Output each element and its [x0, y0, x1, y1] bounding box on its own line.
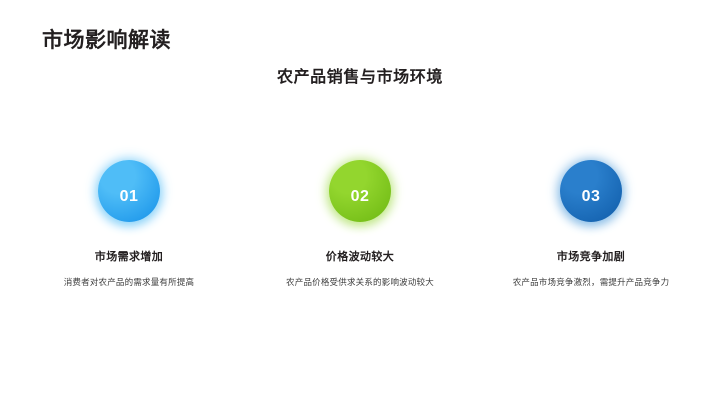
slide-canvas: 市场影响解读 农产品销售与市场环境 01 市场需求增加 消费者对农产品的需求量有… — [0, 0, 720, 404]
number-badge-02: 02 — [329, 160, 391, 222]
slide-subtitle: 农产品销售与市场环境 — [0, 68, 720, 89]
column-body-text: 消费者对农产品的需求量有所提高 — [64, 275, 195, 290]
badge-number-label: 01 — [120, 188, 139, 206]
column-body-text: 农产品市场竞争激烈，需提升产品竞争力 — [513, 275, 670, 290]
badge-wrap-03: 03 — [560, 160, 622, 240]
number-badge-03: 03 — [560, 160, 622, 222]
number-badge-01: 01 — [98, 160, 160, 222]
content-columns: 01 市场需求增加 消费者对农产品的需求量有所提高 02 价格波动较大 农产品价… — [0, 160, 720, 290]
column-body-text: 农产品价格受供求关系的影响波动较大 — [286, 275, 434, 290]
badge-wrap-02: 02 — [329, 160, 391, 240]
badge-wrap-01: 01 — [98, 160, 160, 240]
column-heading: 市场需求增加 — [95, 250, 163, 265]
page-title: 市场影响解读 — [42, 28, 171, 53]
badge-number-label: 02 — [351, 188, 370, 206]
content-column-03: 03 市场竞争加剧 农产品市场竞争激烈，需提升产品竞争力 — [486, 160, 696, 290]
content-column-01: 01 市场需求增加 消费者对农产品的需求量有所提高 — [24, 160, 234, 290]
column-heading: 市场竞争加剧 — [557, 250, 625, 265]
column-heading: 价格波动较大 — [326, 250, 394, 265]
content-column-02: 02 价格波动较大 农产品价格受供求关系的影响波动较大 — [255, 160, 465, 290]
badge-number-label: 03 — [582, 188, 601, 206]
